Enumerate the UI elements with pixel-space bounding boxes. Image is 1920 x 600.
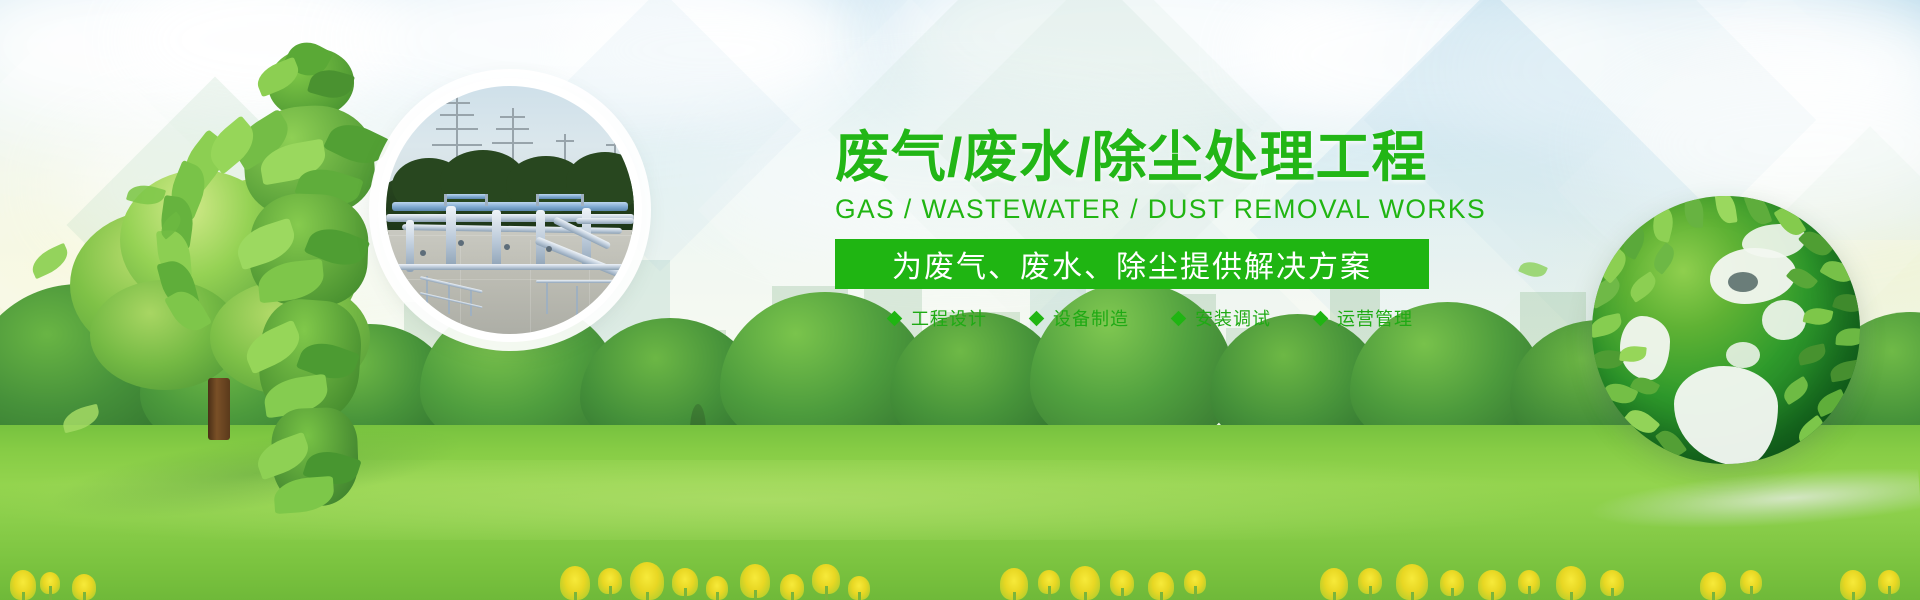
banner-text-block: 废气/废水/除尘处理工程 GAS / WASTEWATER / DUST REM… (835, 128, 1455, 331)
feature-label: 设备制造 (1053, 305, 1129, 331)
feature-item-installation-commissioning[interactable]: 安装调试 (1173, 305, 1271, 331)
slogan-banner: 为废气、废水、除尘提供解决方案 (835, 239, 1429, 289)
feature-label: 安装调试 (1195, 305, 1271, 331)
yellow-flower-row (0, 510, 1920, 600)
feature-label: 工程设计 (911, 305, 987, 331)
eco-engineering-banner: 废气/废水/除尘处理工程 GAS / WASTEWATER / DUST REM… (0, 0, 1920, 600)
leaf-covered-globe (1592, 196, 1860, 464)
leaf-man-figure (148, 48, 398, 518)
page-title: 废气/废水/除尘处理工程 (835, 128, 1455, 186)
diamond-icon (887, 311, 903, 327)
slogan-text: 为废气、废水、除尘提供解决方案 (892, 242, 1372, 286)
feature-label: 运营管理 (1337, 305, 1413, 331)
page-subtitle: GAS / WASTEWATER / DUST REMOVAL WORKS (835, 194, 1455, 225)
feature-item-engineering-design[interactable]: 工程设计 (889, 305, 987, 331)
wastewater-treatment-plant-photo (386, 86, 634, 334)
feature-list: 工程设计 设备制造 安装调试 运营管理 (835, 305, 1455, 331)
diamond-icon (1313, 311, 1329, 327)
diamond-icon (1029, 311, 1045, 327)
feature-item-operation-management[interactable]: 运营管理 (1315, 305, 1413, 331)
feature-item-equipment-manufacturing[interactable]: 设备制造 (1031, 305, 1129, 331)
diamond-icon (1171, 311, 1187, 327)
